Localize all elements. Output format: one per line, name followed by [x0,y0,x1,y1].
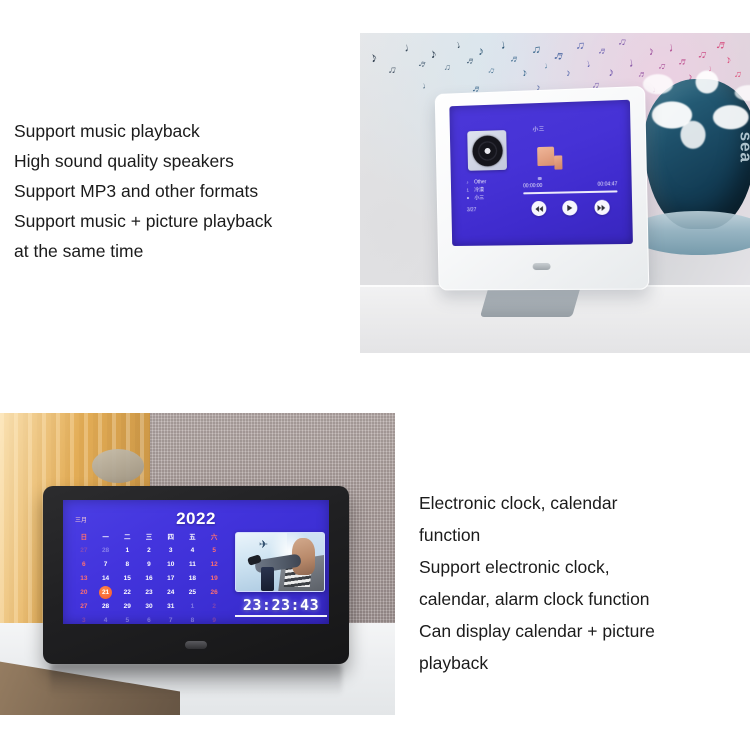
calendar-ui: 三月 2022 日一二三四五六2728123456789101112131415… [63,500,329,624]
music-note-icon: ♫ [443,62,451,72]
calendar-weekday-header: 一 [95,531,117,544]
calendar-day[interactable]: 6 [138,614,160,624]
calendar-weekday-header: 二 [116,531,138,544]
calendar-day[interactable]: 22 [116,586,138,600]
calendar-day[interactable]: 5 [203,544,225,558]
round-object-behind-frame [92,449,144,483]
feature-line: Support MP3 and other formats [14,176,272,206]
previous-track-button[interactable] [531,201,546,216]
calendar-day[interactable]: 7 [160,614,182,624]
calendar-day[interactable]: 30 [138,600,160,614]
music-note-icon: ♪ [565,69,572,80]
time-elapsed: 00:00:00 [523,183,542,189]
clock-underline [235,615,327,617]
feature-line: Can display calendar + picture [419,615,655,647]
music-note-icon: ♬ [465,56,477,68]
calendar-weekday-header: 六 [203,531,225,544]
photo-clock-calendar: 三月 2022 日一二三四五六2728123456789101112131415… [0,413,395,715]
calendar-day[interactable]: 12 [203,558,225,572]
ir-sensor-black-frame [185,641,207,649]
next-track-button[interactable] [594,200,610,215]
calendar-week-row: 13141516171819 [73,572,225,586]
current-track-icon: ● [467,194,472,202]
splash-decoration [630,49,750,159]
track-title: 小三 [450,122,631,136]
feature-line: Support electronic clock, [419,551,655,583]
calendar-day[interactable]: 27 [73,544,95,558]
black-photo-frame: 三月 2022 日一二三四五六2728123456789101112131415… [43,486,349,664]
calendar-week-row: 272829303112 [73,600,225,614]
music-note-icon: ♬ [552,47,568,63]
calendar-day[interactable]: 17 [160,572,182,586]
playback-controls [523,200,618,217]
calendar-week-row: 272812345 [73,544,225,558]
track-artwork [537,146,563,171]
music-note-icon: ♫ [617,36,628,49]
music-note-icon: ♫ [575,38,586,51]
feature-line: Support music playback [14,116,272,146]
calendar-weekday-header: 三 [138,531,160,544]
calendar-day[interactable]: 29 [116,600,138,614]
progress-bar[interactable] [523,190,617,194]
calendar-day[interactable]: 16 [138,572,160,586]
calendar-day[interactable]: 5 [116,614,138,624]
feature-line: calendar, alarm clock function [419,583,655,615]
white-photo-frame: ♪ Other 1 冷漠 ● 小三 3/27 小三 [435,86,650,290]
calendar-day[interactable]: 8 [182,614,204,624]
calendar-day[interactable]: 4 [182,544,204,558]
music-note-icon: ♩ [585,57,599,71]
calendar-day-today[interactable]: 21 [95,586,117,600]
time-total: 00:04:47 [598,181,618,188]
calendar-day[interactable]: 6 [73,558,95,572]
music-note-icon: ♪ [521,67,529,79]
calendar-day[interactable]: 9 [203,614,225,624]
music-note-icon: ♫ [487,65,496,76]
calendar-day[interactable]: 11 [182,558,204,572]
music-note-icon: ♬ [509,54,521,66]
play-button[interactable] [563,200,578,215]
calendar-day[interactable]: 3 [160,544,182,558]
playlist-item[interactable]: 1 冷漠 [466,186,486,194]
calendar-week-row: 20212223242526 [73,586,225,600]
music-note-icon: ♪ [466,179,471,187]
time-row: 00:00:00 00:04:47 [523,181,617,189]
digital-clock: 23:23:43 [233,596,329,614]
frame-reflection [50,663,342,697]
music-note-icon: ♪ [368,49,379,64]
calendar-day[interactable]: 27 [73,600,95,614]
calendar-day[interactable]: 18 [182,572,204,586]
music-note-icon: ♪ [429,46,438,60]
calendar-day[interactable]: 25 [182,586,204,600]
feature-line: function [419,519,655,551]
luggage [261,567,274,591]
music-player-ui: ♪ Other 1 冷漠 ● 小三 3/27 小三 [449,100,633,246]
frame-screen-music: ♪ Other 1 冷漠 ● 小三 3/27 小三 [449,100,633,246]
feature-list-clock: Electronic clock, calendar function Supp… [419,487,655,679]
calendar-day[interactable]: 24 [160,586,182,600]
feature-list-music: Support music playback High sound qualit… [14,116,272,266]
calendar-grid: 日一二三四五六272812345678910111213141516171819… [73,531,225,624]
calendar-day[interactable]: 28 [95,600,117,614]
calendar-week-row: 6789101112 [73,558,225,572]
music-note-icon: ♩ [499,36,514,51]
calendar-day[interactable]: 31 [160,600,182,614]
speaker-object: sea [644,79,750,229]
music-note-icon: ♬ [416,58,429,71]
playlist-index: 1 [466,187,471,195]
playlist-item-label: 小三 [474,194,484,202]
music-note-icon: ♩ [454,37,468,51]
calendar-day[interactable]: 15 [116,572,138,586]
vinyl-record-icon [472,135,503,167]
album-art [467,130,507,171]
calendar-day[interactable]: 8 [116,558,138,572]
calendar-day[interactable]: 10 [160,558,182,572]
calendar-day[interactable]: 4 [95,614,117,624]
speaker-brand-text: sea [735,132,750,163]
calendar-day[interactable]: 14 [95,572,117,586]
artwork-shape-left [537,147,554,166]
calendar-day[interactable]: 19 [203,572,225,586]
calendar-day[interactable]: 2 [203,600,225,614]
music-note-icon: ♫ [387,64,397,76]
progress-handle[interactable] [538,177,542,180]
calendar-day[interactable]: 1 [182,600,204,614]
calendar-day[interactable]: 20 [73,586,95,600]
music-note-icon: ♬ [597,46,609,58]
feature-line: at the same time [14,236,272,266]
music-note-icon: ♫ [531,42,542,55]
calendar-day[interactable]: 7 [95,558,117,572]
calendar-day[interactable]: 3 [73,614,95,624]
playlist-count: 3/27 [467,206,487,214]
music-note-icon: ♩ [403,40,417,54]
calendar-photo-thumbnail: ✈ [235,532,325,592]
feature-line: High sound quality speakers [14,146,272,176]
calendar-day[interactable]: 9 [138,558,160,572]
playlist-item-active[interactable]: ● 小三 [467,194,487,202]
calendar-weekday-header: 四 [160,531,182,544]
calendar-header-row: 日一二三四五六 [73,531,225,544]
calendar-weekday-header: 日 [73,531,95,544]
feature-line: playback [419,647,655,679]
music-note-icon: ♪ [477,45,484,58]
feature-line: Electronic clock, calendar [419,487,655,519]
music-note-icon: ♩ [421,80,432,91]
product-feature-collage: Support music playback High sound qualit… [0,0,750,750]
frame-screen-calendar: 三月 2022 日一二三四五六2728123456789101112131415… [63,500,329,624]
calendar-day[interactable]: 26 [203,586,225,600]
playlist-item-label: 冷漠 [474,186,484,194]
calendar-day[interactable]: 13 [73,572,95,586]
calendar-day[interactable]: 28 [95,544,117,558]
calendar-day[interactable]: 2 [138,544,160,558]
calendar-day[interactable]: 23 [138,586,160,600]
calendar-day[interactable]: 1 [116,544,138,558]
calendar-weekday-header: 五 [182,531,204,544]
music-note-icon: ♩ [543,60,553,70]
photo-music-playback: ♪♫♩♬♪♫♩♬♪♫♩♬♪♫♩♬♪♫♩♬♪♫♩♬♪♫♩♬♪♫♩♬♪♫♩♬♪♫♩♬… [360,33,750,353]
playlist: ♪ Other 1 冷漠 ● 小三 3/27 [466,178,487,214]
feature-line: Support music + picture playback [14,206,272,236]
artwork-shape-right [554,155,562,169]
calendar-week-row: 3456789 [73,614,225,624]
airplane-icon: ✈ [259,541,281,549]
music-note-icon: ♪ [607,66,615,79]
calendar-year: 2022 [63,509,329,529]
ir-sensor-white-frame [533,263,551,270]
